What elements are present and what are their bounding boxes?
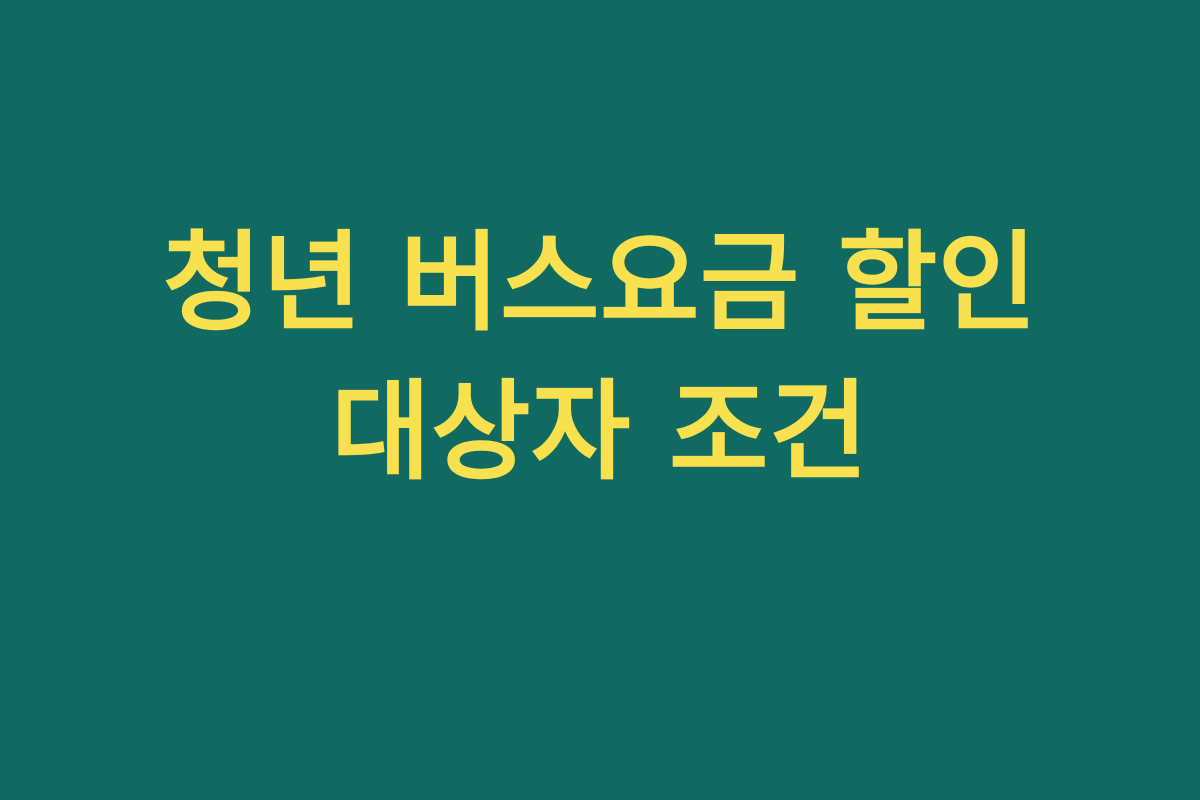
page-title: 청년 버스요금 할인 대상자 조건 [70,209,1130,507]
headline-container: 청년 버스요금 할인 대상자 조건 [70,209,1130,507]
banner-canvas: 청년 버스요금 할인 대상자 조건 [0,0,1200,800]
